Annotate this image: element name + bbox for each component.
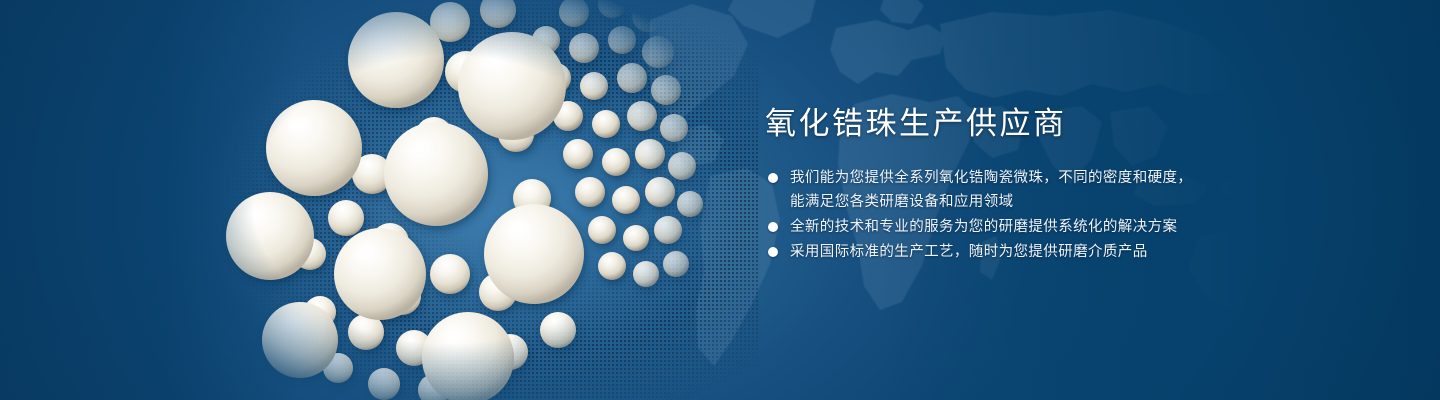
zirconia-beads-image: [150, 0, 770, 400]
list-item-line: 采用国际标准的生产工艺，随时为您提供研磨介质产品: [790, 240, 1383, 264]
list-item-line: 能满足您各类研磨设备和应用领域: [790, 190, 1383, 214]
banner-copy: 氧化锆珠生产供应商 我们能为您提供全系列氧化锆陶瓷微珠，不同的密度和硬度， 能满…: [763, 104, 1383, 265]
list-item: 我们能为您提供全系列氧化锆陶瓷微珠，不同的密度和硬度， 能满足您各类研磨设备和应…: [763, 166, 1383, 214]
bullet-dot-icon: [768, 173, 778, 183]
list-item-line: 全新的技术和专业的服务为您的研磨提供系统化的解决方案: [790, 215, 1383, 239]
list-item: 全新的技术和专业的服务为您的研磨提供系统化的解决方案: [763, 215, 1383, 239]
list-item: 采用国际标准的生产工艺，随时为您提供研磨介质产品: [763, 240, 1383, 264]
bullet-dot-icon: [768, 247, 778, 257]
list-item-line: 我们能为您提供全系列氧化锆陶瓷微珠，不同的密度和硬度，: [790, 166, 1383, 190]
page-title: 氧化锆珠生产供应商: [765, 104, 1383, 144]
hero-banner: 氧化锆珠生产供应商 我们能为您提供全系列氧化锆陶瓷微珠，不同的密度和硬度， 能满…: [0, 0, 1440, 400]
bullet-dot-icon: [768, 222, 778, 232]
feature-list: 我们能为您提供全系列氧化锆陶瓷微珠，不同的密度和硬度， 能满足您各类研磨设备和应…: [763, 166, 1383, 264]
